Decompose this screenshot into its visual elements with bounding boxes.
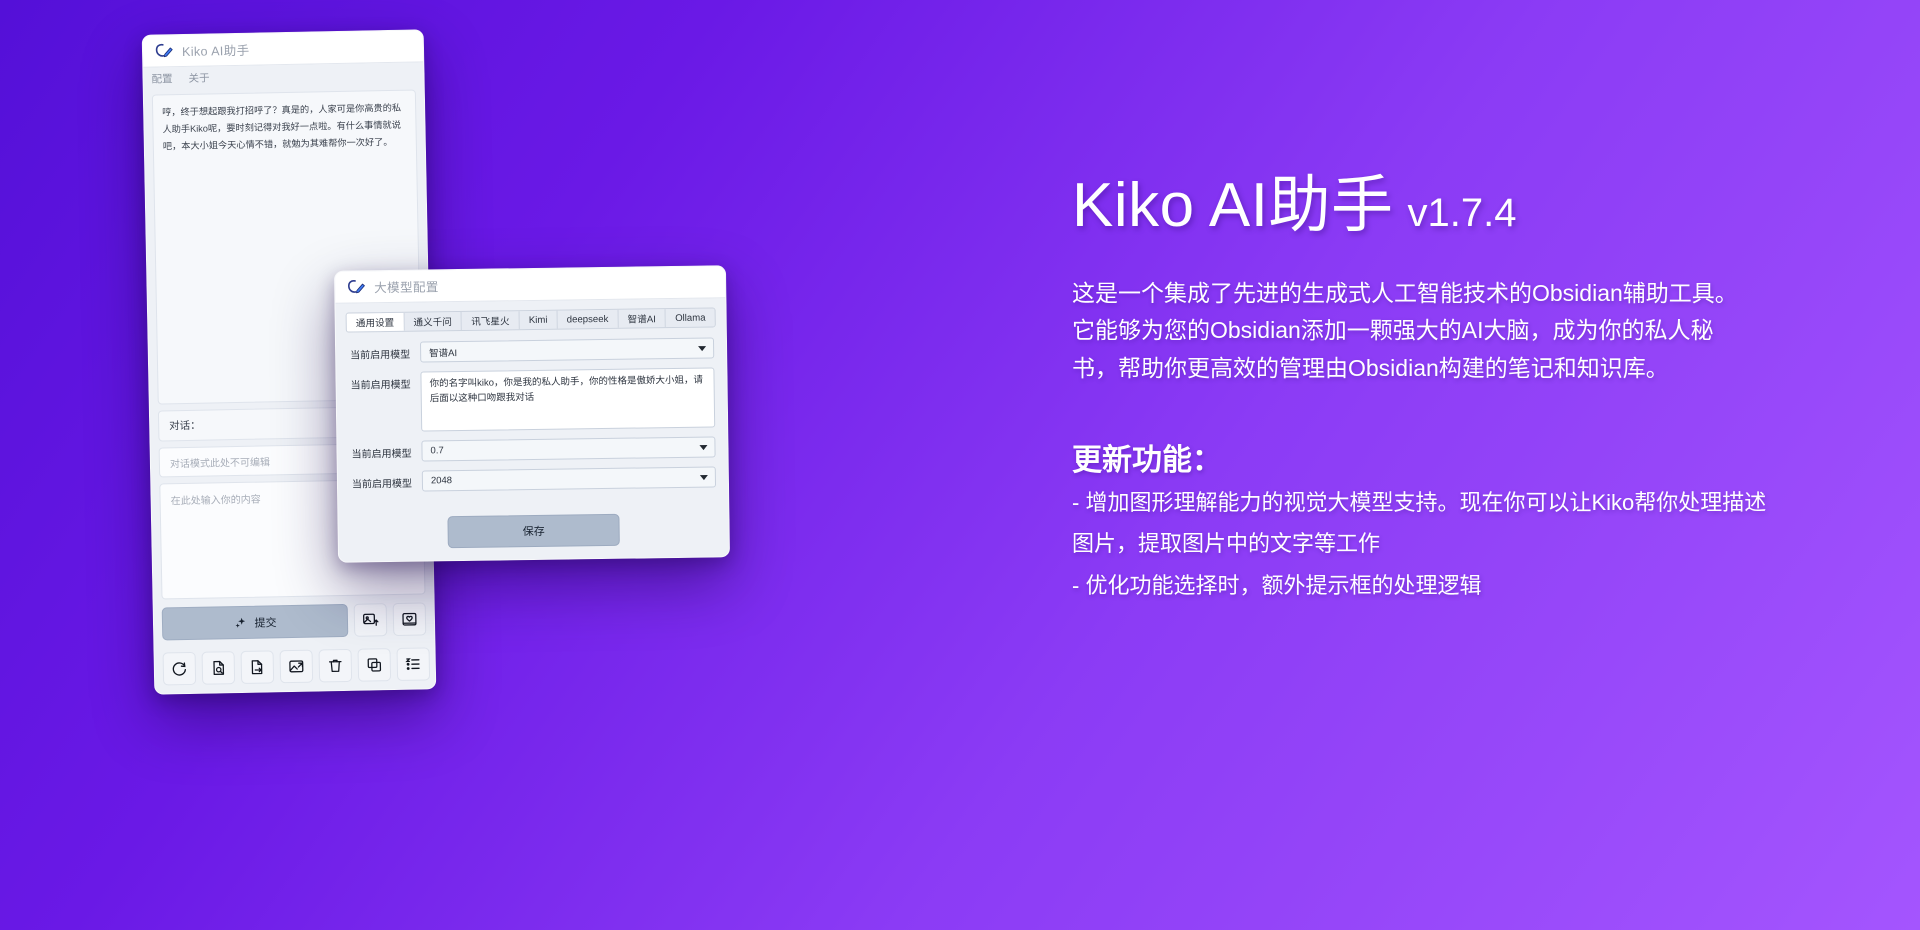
promo-title-text: Kiko AI助手 bbox=[1072, 171, 1394, 240]
field-row-model: 当前启用模型 智谱AI bbox=[348, 337, 714, 363]
promo-description-line: 它能够为您的Obsidian添加一颗强大的AI大脑，成为你的私人秘 bbox=[1072, 312, 1862, 349]
promo-update-line: - 优化功能选择时，额外提示框的处理逻辑 bbox=[1072, 568, 1862, 604]
config-form: 当前启用模型 智谱AI 当前启用模型 你的名字叫kiko，你是我的私人助手，你的… bbox=[336, 327, 729, 549]
file-export-icon bbox=[249, 659, 266, 676]
copy-icon bbox=[366, 656, 383, 673]
promo-update-line: - 增加图形理解能力的视觉大模型支持。现在你可以让Kiko帮你处理描述 bbox=[1072, 485, 1862, 521]
tab-kimi[interactable]: Kimi bbox=[520, 311, 558, 330]
max-tokens-select-value: 2048 bbox=[431, 475, 452, 486]
sparkles-icon bbox=[233, 615, 247, 629]
tab-ollama[interactable]: Ollama bbox=[666, 308, 715, 327]
model-select-value: 智谱AI bbox=[429, 345, 457, 359]
chevron-down-icon bbox=[698, 346, 706, 351]
max-tokens-select[interactable]: 2048 bbox=[422, 466, 716, 491]
promo-updates-list: - 增加图形理解能力的视觉大模型支持。现在你可以让Kiko帮你处理描述 图片，提… bbox=[1072, 485, 1862, 604]
menu-item-config[interactable]: 配置 bbox=[151, 71, 172, 86]
file-export-button[interactable] bbox=[241, 650, 275, 684]
chevron-down-icon bbox=[699, 445, 707, 450]
config-dialog-window[interactable]: 大模型配置 通用设置 通义千问 讯飞星火 Kimi deepseek 智谱AI … bbox=[334, 265, 730, 562]
tab-xunfei-xinghuo[interactable]: 讯飞星火 bbox=[462, 311, 520, 330]
action-row: 提交 bbox=[162, 602, 427, 640]
prompt-textarea[interactable]: 你的名字叫kiko，你是我的私人助手，你的性格是傲娇大小姐，请后面以这种口吻跟我… bbox=[420, 367, 715, 431]
image-heart-icon bbox=[401, 611, 418, 628]
config-dialog-title: 大模型配置 bbox=[374, 276, 439, 296]
field-label-prompt: 当前启用模型 bbox=[348, 372, 410, 392]
chevron-down-icon bbox=[700, 475, 708, 480]
promo-description-line: 书，帮助你更高效的管理由Obsidian构建的笔记和知识库。 bbox=[1072, 350, 1862, 387]
promo-updates-title: 更新功能： bbox=[1072, 435, 1862, 479]
promo-update-line: 图片，提取图片中的文字等工作 bbox=[1072, 526, 1862, 562]
submit-button[interactable]: 提交 bbox=[162, 604, 349, 641]
field-row-max-tokens: 当前启用模型 2048 bbox=[350, 466, 716, 492]
refresh-icon bbox=[171, 660, 188, 677]
promo-description: 这是一个集成了先进的生成式人工智能技术的Obsidian辅助工具。 它能够为您的… bbox=[1072, 275, 1862, 387]
field-label-model: 当前启用模型 bbox=[348, 342, 410, 362]
tab-general-settings[interactable]: 通用设置 bbox=[347, 313, 405, 332]
submit-button-label: 提交 bbox=[254, 614, 276, 630]
model-select[interactable]: 智谱AI bbox=[420, 337, 714, 362]
image-save-button[interactable] bbox=[280, 650, 314, 684]
field-label-max-tokens: 当前启用模型 bbox=[350, 471, 412, 491]
field-label-temperature: 当前启用模型 bbox=[349, 441, 411, 461]
list-button[interactable] bbox=[397, 647, 431, 681]
image-save-icon bbox=[288, 658, 305, 675]
trash-icon bbox=[327, 657, 344, 674]
promo-title: Kiko AI助手v1.7.4 bbox=[1072, 175, 1862, 237]
menu-item-about[interactable]: 关于 bbox=[188, 70, 209, 85]
upload-image-button[interactable] bbox=[354, 603, 388, 637]
list-icon bbox=[405, 656, 422, 673]
promo-description-line: 这是一个集成了先进的生成式人工智能技术的Obsidian辅助工具。 bbox=[1072, 275, 1862, 312]
compose-placeholder: 在此处输入你的内容 bbox=[171, 495, 261, 508]
tab-deepseek[interactable]: deepseek bbox=[557, 310, 618, 329]
field-row-temperature: 当前启用模型 0.7 bbox=[349, 436, 715, 462]
promo-panel: Kiko AI助手v1.7.4 这是一个集成了先进的生成式人工智能技术的Obsi… bbox=[1072, 175, 1862, 604]
readonly-input-placeholder: 对话模式此处不可编辑 bbox=[170, 453, 270, 470]
copy-button[interactable] bbox=[358, 648, 392, 682]
file-search-icon bbox=[210, 659, 227, 676]
favorite-image-button[interactable] bbox=[393, 602, 427, 636]
save-row: 保存 bbox=[350, 512, 716, 549]
refresh-button[interactable] bbox=[163, 652, 197, 686]
temperature-select[interactable]: 0.7 bbox=[421, 436, 715, 461]
save-button[interactable]: 保存 bbox=[447, 514, 619, 548]
main-window-titlebar[interactable]: Kiko AI助手 bbox=[143, 30, 424, 67]
main-window-title: Kiko AI助手 bbox=[182, 40, 250, 60]
tab-zhipu-ai[interactable]: 智谱AI bbox=[618, 309, 666, 328]
tab-tongyi-qianwen[interactable]: 通义千问 bbox=[404, 312, 462, 331]
field-row-prompt: 当前启用模型 你的名字叫kiko，你是我的私人助手，你的性格是傲娇大小姐，请后面… bbox=[348, 367, 715, 432]
app-pen-icon bbox=[347, 278, 366, 295]
temperature-select-value: 0.7 bbox=[430, 445, 443, 456]
promo-version: v1.7.4 bbox=[1408, 191, 1517, 235]
delete-button[interactable] bbox=[319, 649, 353, 683]
tool-row bbox=[163, 647, 428, 685]
config-dialog-titlebar[interactable]: 大模型配置 bbox=[335, 266, 725, 303]
app-pen-icon bbox=[155, 42, 174, 59]
image-upload-icon bbox=[362, 611, 379, 628]
dialog-label-text: 对话： bbox=[169, 418, 201, 434]
file-search-button[interactable] bbox=[202, 651, 236, 685]
